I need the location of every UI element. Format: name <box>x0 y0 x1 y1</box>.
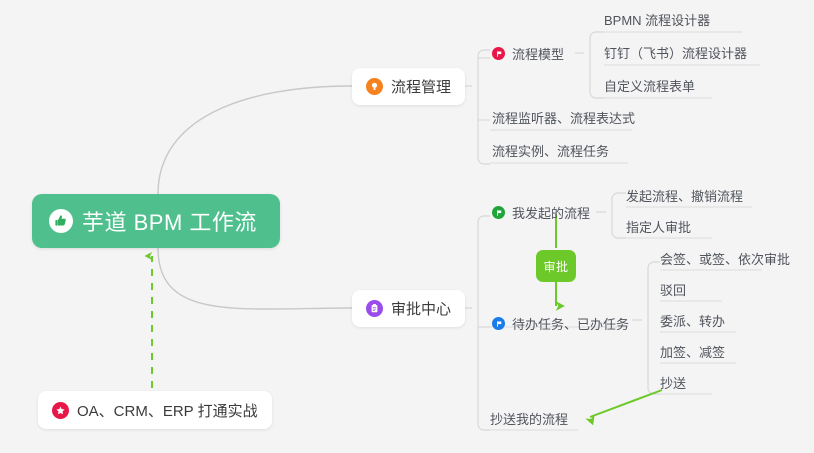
root-node-label: 芋道 BPM 工作流 <box>82 205 257 237</box>
connector-model-bracket <box>590 32 604 98</box>
clipboard-icon <box>366 300 383 317</box>
leaf-start-cancel-process[interactable]: 发起流程、撤销流程 <box>626 188 743 205</box>
connector-pm-bracket <box>478 50 490 164</box>
star-icon <box>52 402 69 419</box>
leaf-reject[interactable]: 驳回 <box>660 282 686 299</box>
floating-node-label: OA、CRM、ERP 打通实战 <box>77 400 258 421</box>
child-node-process-model[interactable]: 流程模型 <box>492 44 564 63</box>
leaf-bpmn-designer[interactable]: BPMN 流程设计器 <box>604 12 710 29</box>
child-node-process-instance-task[interactable]: 流程实例、流程任务 <box>492 143 609 160</box>
lightbulb-pin-icon <box>366 78 383 95</box>
flag-icon <box>492 206 505 219</box>
child-node-label: 我发起的流程 <box>512 203 590 222</box>
connector-root-to-process-management <box>158 86 352 194</box>
annotation-arrow-cc-to-process <box>590 390 662 417</box>
branch-node-label: 审批中心 <box>391 298 451 319</box>
root-node[interactable]: 芋道 BPM 工作流 <box>32 194 280 248</box>
leaf-assignee-approval[interactable]: 指定人审批 <box>626 219 691 236</box>
mindmap-canvas: 芋道 BPM 工作流 流程管理 流程模型 BPMN 流程设计器 钉钉（飞书）流程… <box>0 0 814 453</box>
flag-icon <box>492 47 505 60</box>
annotation-approval-label: 审批 <box>543 258 568 275</box>
branch-node-approval-center[interactable]: 审批中心 <box>352 290 465 327</box>
leaf-dingtalk-feishu-designer[interactable]: 钉钉（飞书）流程设计器 <box>604 45 747 62</box>
child-node-cc-to-me-processes[interactable]: 抄送我的流程 <box>490 411 568 428</box>
child-node-label: 流程模型 <box>512 44 564 63</box>
annotation-approval-chip[interactable]: 审批 <box>536 250 576 282</box>
flag-icon <box>492 317 505 330</box>
child-node-process-listener-expression[interactable]: 流程监听器、流程表达式 <box>492 110 635 127</box>
thumbs-up-icon <box>49 209 73 233</box>
connector-root-to-approval-center <box>158 248 352 309</box>
leaf-custom-process-form[interactable]: 自定义流程表单 <box>604 78 695 95</box>
leaf-add-remove-sign[interactable]: 加签、减签 <box>660 344 725 361</box>
connector-mine-bracket <box>612 193 626 238</box>
leaf-countersign-or-sequential[interactable]: 会签、或签、依次审批 <box>660 251 790 268</box>
leaf-cc[interactable]: 抄送 <box>660 375 686 392</box>
leaf-delegate-transfer[interactable]: 委派、转办 <box>660 313 725 330</box>
connector-ac-bracket <box>478 216 490 430</box>
child-node-todo-done-tasks[interactable]: 待办任务、已办任务 <box>492 314 629 333</box>
connector-todo-bracket <box>648 262 660 394</box>
floating-node-integration-practice[interactable]: OA、CRM、ERP 打通实战 <box>38 391 272 429</box>
branch-node-label: 流程管理 <box>391 76 451 97</box>
child-node-label: 待办任务、已办任务 <box>512 314 629 333</box>
branch-node-process-management[interactable]: 流程管理 <box>352 68 465 105</box>
child-node-my-initiated-processes[interactable]: 我发起的流程 <box>492 203 590 222</box>
